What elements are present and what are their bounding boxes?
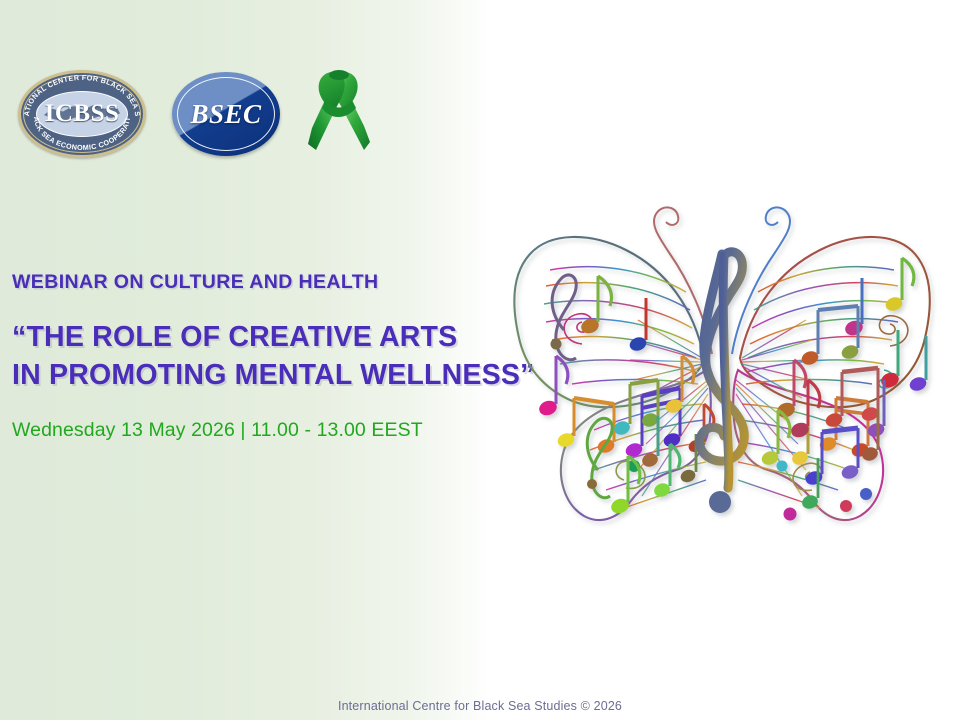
webinar-title: “THE ROLE OF CREATIVE ARTS IN PROMOTING … <box>12 319 532 394</box>
webinar-kicker: WEBINAR ON CULTURE AND HEALTH <box>12 272 532 293</box>
headline-block: WEBINAR ON CULTURE AND HEALTH “THE ROLE … <box>12 272 532 442</box>
webinar-title-line-1: “THE ROLE OF CREATIVE ARTS <box>12 319 532 357</box>
webinar-title-line-2: IN PROMOTING MENTAL WELLNESS” <box>12 357 532 395</box>
bsec-logo: BSEC <box>172 72 280 156</box>
music-note-butterfly-artwork <box>498 158 946 548</box>
icbss-arc-text: INTERNATIONAL CENTER FOR BLACK SEA STUDI… <box>18 70 146 158</box>
icbss-arc-top-label: INTERNATIONAL CENTER FOR BLACK SEA STUDI… <box>18 70 142 117</box>
logo-row: INTERNATIONAL CENTER FOR BLACK SEA STUDI… <box>18 66 372 162</box>
butterfly-svg <box>498 158 946 548</box>
bsec-acronym: BSEC <box>172 72 280 156</box>
footer-copyright: International Centre for Black Sea Studi… <box>0 699 960 713</box>
green-awareness-ribbon-icon <box>306 66 372 162</box>
webinar-poster: INTERNATIONAL CENTER FOR BLACK SEA STUDI… <box>0 0 960 720</box>
icbss-logo: INTERNATIONAL CENTER FOR BLACK SEA STUDI… <box>18 70 146 158</box>
webinar-datetime: Wednesday 13 May 2026 | 11.00 - 13.00 EE… <box>12 419 532 442</box>
